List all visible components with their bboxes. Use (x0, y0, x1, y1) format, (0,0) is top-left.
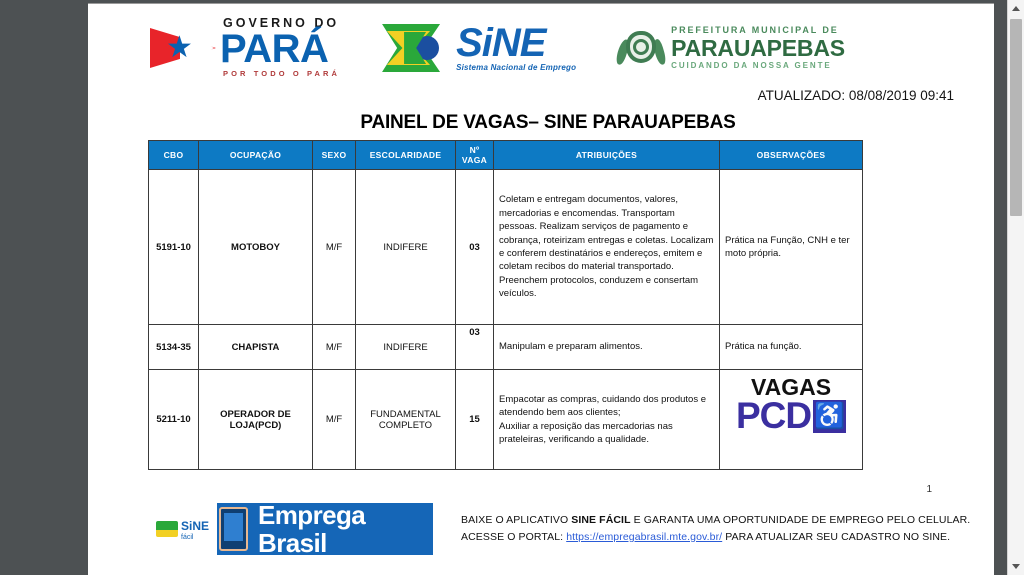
pdf-viewer: ★ GOVERNO DO PARÁ POR TODO O PARÁ (0, 0, 1024, 575)
vertical-scrollbar[interactable] (1007, 0, 1024, 575)
cell-ocupacao: CHAPISTA (199, 325, 313, 370)
page-number: 1 (88, 484, 994, 495)
pcd-badge-line2: PCD (736, 397, 811, 435)
sine-logo: SiNE Sistema Nacional de Emprego (382, 24, 576, 72)
para-logo-main-text: PARÁ (220, 30, 340, 68)
chevron-up-icon (1012, 6, 1020, 11)
chevron-down-icon (1012, 564, 1020, 569)
column-header-numero-vaga-line1: Nº (470, 145, 480, 155)
pcd-badge: VAGAS PCD ♿ (725, 373, 857, 435)
document-page: ★ GOVERNO DO PARÁ POR TODO O PARÁ (88, 3, 994, 575)
phone-icon (219, 507, 248, 551)
cell-escolaridade: INDIFERE (356, 325, 456, 370)
cell-atribuicoes: Coletam e entregam documentos, valores, … (494, 170, 720, 325)
cell-observacoes: Prática na função. (720, 325, 863, 370)
vacancies-table-wrapper: CBO OCUPAÇÃO SEXO ESCOLARIDADE Nº VAGA A… (88, 140, 994, 470)
column-header-atribuicoes: ATRIBUIÇÕES (494, 141, 720, 170)
footer: SiNE fácil Portal Emprega Brasil MINISTÉ… (88, 495, 994, 555)
sine-facil-name: SiNE (181, 519, 209, 533)
table-header-row: CBO OCUPAÇÃO SEXO ESCOLARIDADE Nº VAGA A… (149, 141, 863, 170)
table-row: 5191-10 MOTOBOY M/F INDIFERE 03 Coletam … (149, 170, 863, 325)
cell-numero-vagas: 03 (456, 325, 494, 370)
footer-line1-prefix: BAIXE O APLICATIVO (461, 514, 571, 526)
sine-logo-tagline: Sistema Nacional de Emprego (456, 64, 576, 72)
column-header-numero-vaga: Nº VAGA (456, 141, 494, 170)
cell-escolaridade: INDIFERE (356, 170, 456, 325)
star-icon: ★ (166, 34, 193, 62)
table-row: 5134-35 CHAPISTA M/F INDIFERE 03 Manipul… (149, 325, 863, 370)
column-header-cbo: CBO (149, 141, 199, 170)
banner-title: Emprega Brasil (258, 503, 433, 555)
sine-facil-sub: fácil (181, 534, 209, 541)
column-header-observacoes: OBSERVAÇÕES (720, 141, 863, 170)
footer-line1-bold: SINE FÁCIL (571, 514, 630, 526)
column-header-escolaridade: ESCOLARIDADE (356, 141, 456, 170)
cell-sexo: M/F (313, 325, 356, 370)
scroll-down-button[interactable] (1008, 558, 1024, 575)
sine-logo-main-text: SiNE (456, 24, 576, 62)
prefeitura-parauapebas-logo: PREFEITURA MUNICIPAL DE PARAUAPEBAS CUID… (618, 25, 845, 72)
cell-numero-vagas: 03 (456, 170, 494, 325)
cell-observacoes-pcd-badge: VAGAS PCD ♿ (720, 370, 863, 470)
footer-line2-suffix: PARA ATUALIZAR SEU CADASTRO NO SINE. (722, 531, 950, 543)
footer-line-1: BAIXE O APLICATIVO SINE FÁCIL E GARANTA … (461, 512, 970, 529)
scroll-up-button[interactable] (1008, 0, 1024, 17)
cell-cbo: 5191-10 (149, 170, 199, 325)
vacancies-table: CBO OCUPAÇÃO SEXO ESCOLARIDADE Nº VAGA A… (148, 140, 863, 470)
scrollbar-thumb[interactable] (1010, 19, 1022, 216)
cell-ocupacao: OPERADOR DE LOJA(PCD) (199, 370, 313, 470)
prefeitura-logo-top-text: PREFEITURA MUNICIPAL DE (671, 25, 845, 36)
prefeitura-logo-main-text: PARAUAPEBAS (671, 36, 845, 60)
cell-sexo: M/F (313, 170, 356, 325)
cell-cbo: 5134-35 (149, 325, 199, 370)
column-header-ocupacao: OCUPAÇÃO (199, 141, 313, 170)
footer-line2-prefix: ACESSE O PORTAL: (461, 531, 566, 543)
cell-atribuicoes: Manipulam e preparam alimentos. (494, 325, 720, 370)
table-row: 5211-10 OPERADOR DE LOJA(PCD) M/F FUNDAM… (149, 370, 863, 470)
sine-facil-flag-icon (156, 521, 178, 537)
footer-line-2: ACESSE O PORTAL: https://empregabrasil.m… (461, 529, 970, 546)
para-logo-sub-text: POR TODO O PARÁ (220, 68, 340, 80)
cell-ocupacao: MOTOBOY (199, 170, 313, 325)
cell-sexo: M/F (313, 370, 356, 470)
cell-escolaridade: FUNDAMENTAL COMPLETO (356, 370, 456, 470)
sine-facil-logo: SiNE fácil (148, 503, 217, 555)
cell-numero-vagas: 15 (456, 370, 494, 470)
page-title: PAINEL DE VAGAS– SINE PARAUAPEBAS (88, 112, 994, 134)
governo-do-para-logo: ★ GOVERNO DO PARÁ POR TODO O PARÁ (150, 16, 340, 80)
cell-observacoes: Prática na Função, CNH e ter moto própri… (720, 170, 863, 325)
column-header-numero-vaga-line2: VAGA (462, 155, 487, 165)
cell-atribuicoes: Empacotar as compras, cuidando dos produ… (494, 370, 720, 470)
column-header-sexo: SEXO (313, 141, 356, 170)
prefeitura-logo-sub-text: CUIDANDO DA NOSSA GENTE (671, 60, 845, 72)
header-logo-band: ★ GOVERNO DO PARÁ POR TODO O PARÁ (88, 4, 994, 92)
wheelchair-icon: ♿ (813, 400, 846, 433)
footer-line1-suffix: E GARANTA UMA OPORTUNIDADE DE EMPREGO PE… (631, 514, 971, 526)
emprega-brasil-banner: SiNE fácil Portal Emprega Brasil MINISTÉ… (148, 503, 433, 555)
coat-of-arms-icon (618, 25, 664, 71)
para-emblem-icon: ★ (150, 24, 226, 72)
footer-instructions: BAIXE O APLICATIVO SINE FÁCIL E GARANTA … (461, 512, 970, 547)
cell-cbo: 5211-10 (149, 370, 199, 470)
brazil-flag-icon (382, 24, 448, 72)
emprega-brasil-link[interactable]: https://empregabrasil.mte.gov.br/ (566, 531, 722, 543)
